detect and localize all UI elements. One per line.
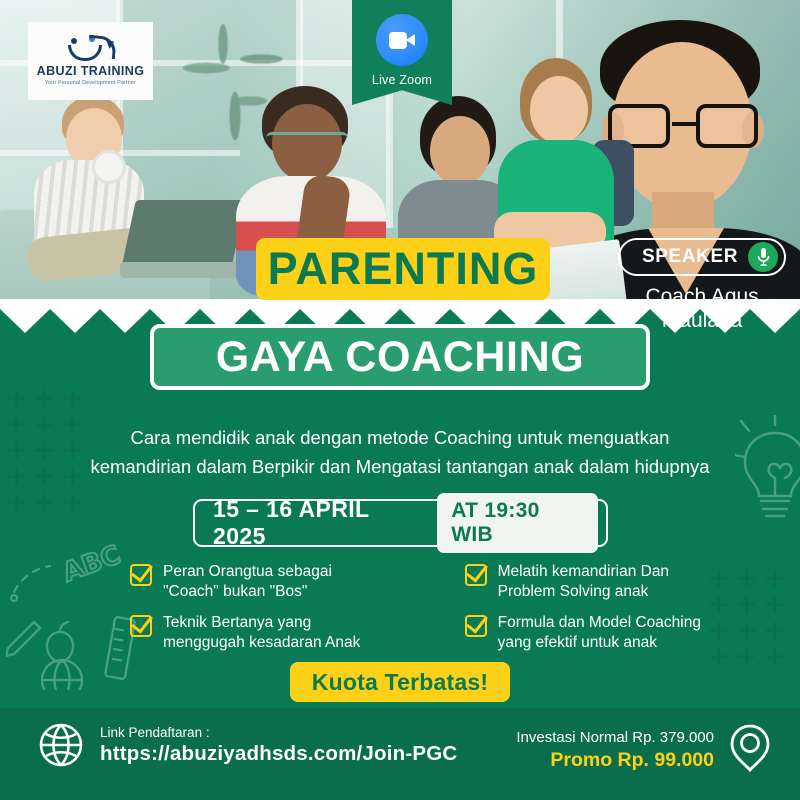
live-zoom-label: Live Zoom [372,73,432,87]
check-icon [465,564,487,586]
video-camera-icon [376,14,428,66]
globe-icon [38,722,84,768]
title-gaya-box: GAYA COACHING [150,324,650,390]
speaker-badge: SPEAKER [618,238,786,276]
benefits-column-right: Melatih kemandirian Dan Problem Solving … [465,562,730,654]
benefit-text: Melatih kemandirian Dan Problem Solving … [498,562,669,602]
title-parenting-box: PARENTING [256,238,550,300]
benefit-item: Melatih kemandirian Dan Problem Solving … [465,562,730,602]
speaker-badge-label: SPEAKER [642,246,738,268]
location-pin-icon [728,722,772,779]
benefit-text: Formula dan Model Coaching yang efektif … [498,613,701,653]
speaker-block: SPEAKER Coach Agus Maulana [618,238,786,333]
check-icon [465,615,487,637]
title-parenting: PARENTING [268,243,539,295]
registration-url[interactable]: https://abuziyadhsds.com/Join-PGC [100,742,457,766]
benefits-column-left: Peran Orangtua sebagai "Coach" bukan "Bo… [130,562,441,654]
abuzi-logo-icon [64,36,118,62]
live-zoom-badge: Live Zoom [352,0,452,105]
pricing-block: Investasi Normal Rp. 379.000 Promo Rp. 9… [516,722,772,779]
poster-root: ABC ABUZI TRAINING Your Personal Develop… [0,0,800,800]
benefits-list: Peran Orangtua sebagai "Coach" bukan "Bo… [130,562,730,654]
quota-banner: Kuota Terbatas! [290,662,510,702]
registration-block: Link Pendaftaran : https://abuziyadhsds.… [38,722,457,768]
microphone-icon [748,242,778,272]
footer-bar: Link Pendaftaran : https://abuziyadhsds.… [0,708,800,800]
title-gaya-coaching: GAYA COACHING [216,333,585,382]
schedule-date: 15 – 16 APRIL 2025 [213,496,423,550]
schedule-bar: 15 – 16 APRIL 2025 AT 19:30 WIB [193,499,608,547]
registration-label: Link Pendaftaran : [100,725,457,740]
benefit-item: Peran Orangtua sebagai "Coach" bukan "Bo… [130,562,441,602]
benefit-text: Teknik Bertanya yang menggugah kesadaran… [163,613,360,653]
brand-logo: ABUZI TRAINING Your Personal Development… [28,22,153,100]
price-normal: Investasi Normal Rp. 379.000 [516,729,714,746]
schedule-time: AT 19:30 WIB [437,493,598,553]
description-line-1: Cara mendidik anak dengan metode Coachin… [40,424,760,453]
check-icon [130,615,152,637]
quota-label: Kuota Terbatas! [312,669,488,696]
description-block: Cara mendidik anak dengan metode Coachin… [40,424,760,481]
check-icon [130,564,152,586]
benefit-item: Formula dan Model Coaching yang efektif … [465,613,730,653]
description-line-2: kemandirian dalam Berpikir dan Mengatasi… [40,453,760,482]
price-promo: Promo Rp. 99.000 [516,749,714,772]
svg-text:ABC: ABC [59,540,125,588]
benefit-text: Peran Orangtua sebagai "Coach" bukan "Bo… [163,562,332,602]
logo-tagline: Your Personal Development Partner [45,80,136,86]
logo-name: ABUZI TRAINING [37,64,145,78]
benefit-item: Teknik Bertanya yang menggugah kesadaran… [130,613,441,653]
